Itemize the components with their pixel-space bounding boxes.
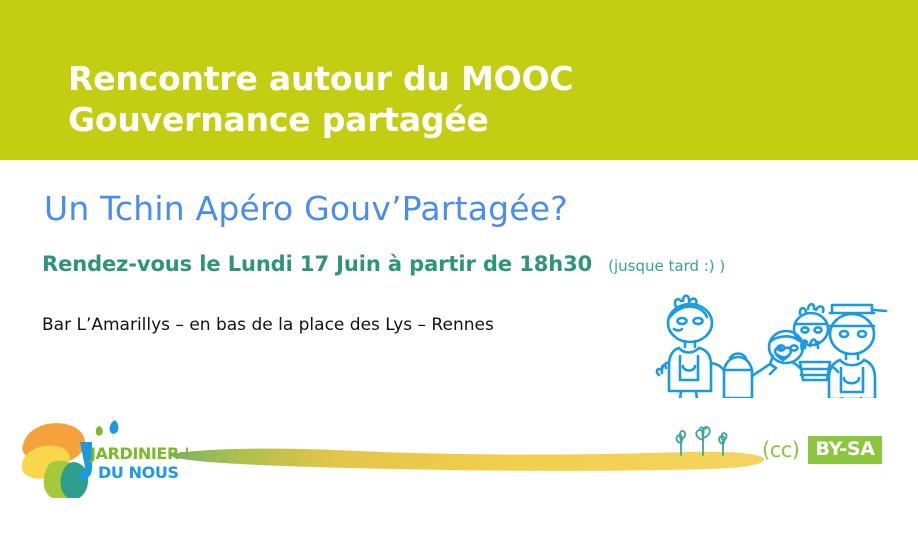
rendezvous-note: (jusque tard :) ) — [608, 253, 725, 279]
gardeners-illustration — [652, 290, 900, 398]
plant-sprouts — [672, 426, 734, 456]
cc-license-terms: BY-SA — [808, 436, 881, 464]
logo-drops — [96, 420, 119, 436]
header-band: Rencontre autour du MOOC Gouvernance par… — [0, 0, 918, 160]
rendezvous-line: Rendez-vous le Lundi 17 Juin à partir de… — [42, 250, 725, 279]
poster-canvas: Rencontre autour du MOOC Gouvernance par… — [0, 0, 918, 545]
rendezvous-text: Rendez-vous le Lundi 17 Juin à partir de… — [42, 250, 592, 278]
logo-text-line2: DU NOUS — [98, 463, 179, 482]
logo-petals — [22, 423, 88, 498]
jardiniers-du-nous-logo: JARDINIER·E·S DU NOUS — [8, 412, 188, 498]
cc-license-badge[interactable]: (cc) BY-SA — [762, 436, 882, 464]
cc-mark-icon: (cc) — [762, 436, 799, 464]
page-title: Rencontre autour du MOOC Gouvernance par… — [68, 58, 828, 140]
headline: Un Tchin Apéro Gouv’Partagée? — [44, 188, 568, 230]
venue-address: Bar L’Amarillys – en bas de la place des… — [42, 313, 494, 337]
